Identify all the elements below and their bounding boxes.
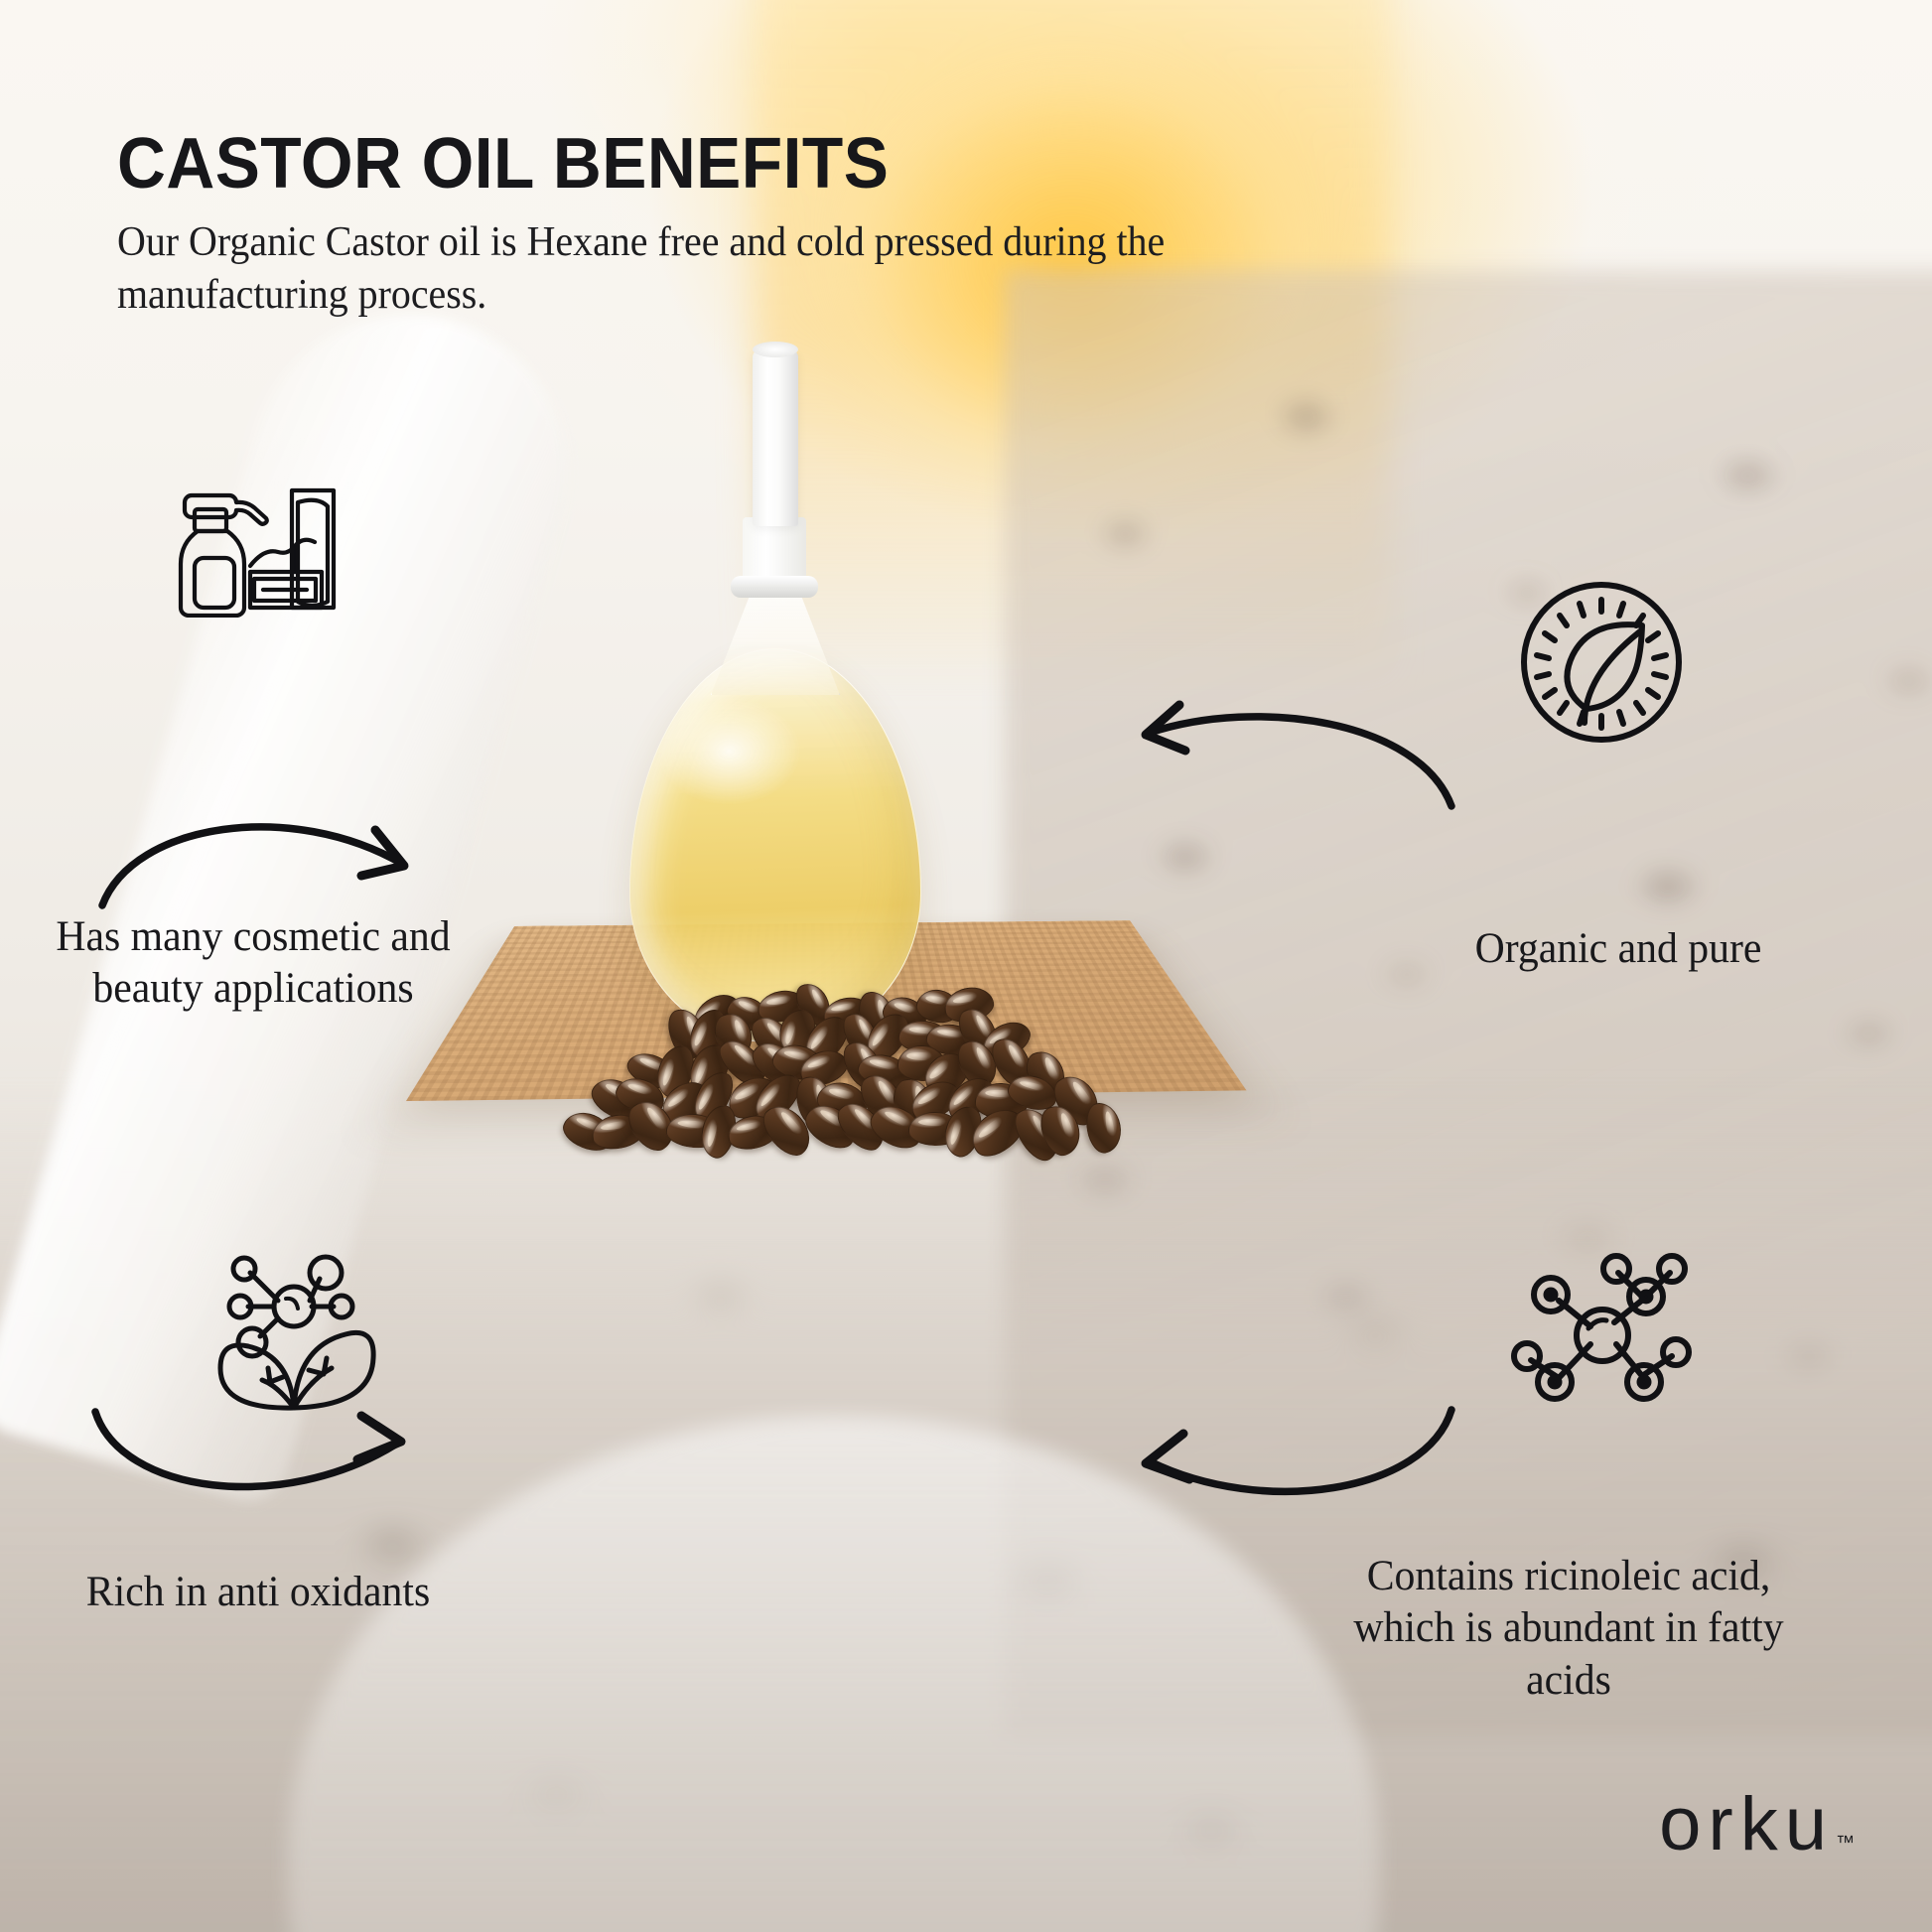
header: CASTOR OIL BENEFITS Our Organic Castor o… (117, 127, 1348, 323)
curved-arrow-right-icon (94, 784, 422, 913)
feature-label-anti-oxidants: Rich in anti oxidants (47, 1567, 471, 1618)
page-title: CASTOR OIL BENEFITS (117, 127, 1275, 203)
molecule-network-icon (1507, 1249, 1696, 1416)
logo-trademark: ™ (1836, 1833, 1855, 1855)
curved-arrow-left-icon (1132, 1390, 1459, 1519)
curved-arrow-right-icon (87, 1390, 415, 1519)
feature-label-organic-pure: Organic and pure (1441, 923, 1797, 975)
cosmetics-bottles-icon (151, 449, 340, 618)
curved-arrow-left-icon (1132, 683, 1459, 812)
antioxidant-molecule-leaves-icon (207, 1241, 383, 1412)
feature-label-cosmetic-benefits: Has many cosmetic and beauty application… (46, 911, 460, 1016)
infographic-canvas: CASTOR OIL BENEFITS Our Organic Castor o… (0, 0, 1932, 1932)
feature-label-ricinoleic-acid: Contains ricinoleic acid, which is abund… (1328, 1551, 1810, 1707)
logo-wordmark: orku (1659, 1787, 1834, 1863)
orku-logo: orku ™ (1659, 1787, 1855, 1863)
page-subtitle: Our Organic Castor oil is Hexane free an… (117, 216, 1230, 324)
organic-leaf-badge-icon (1517, 578, 1686, 747)
